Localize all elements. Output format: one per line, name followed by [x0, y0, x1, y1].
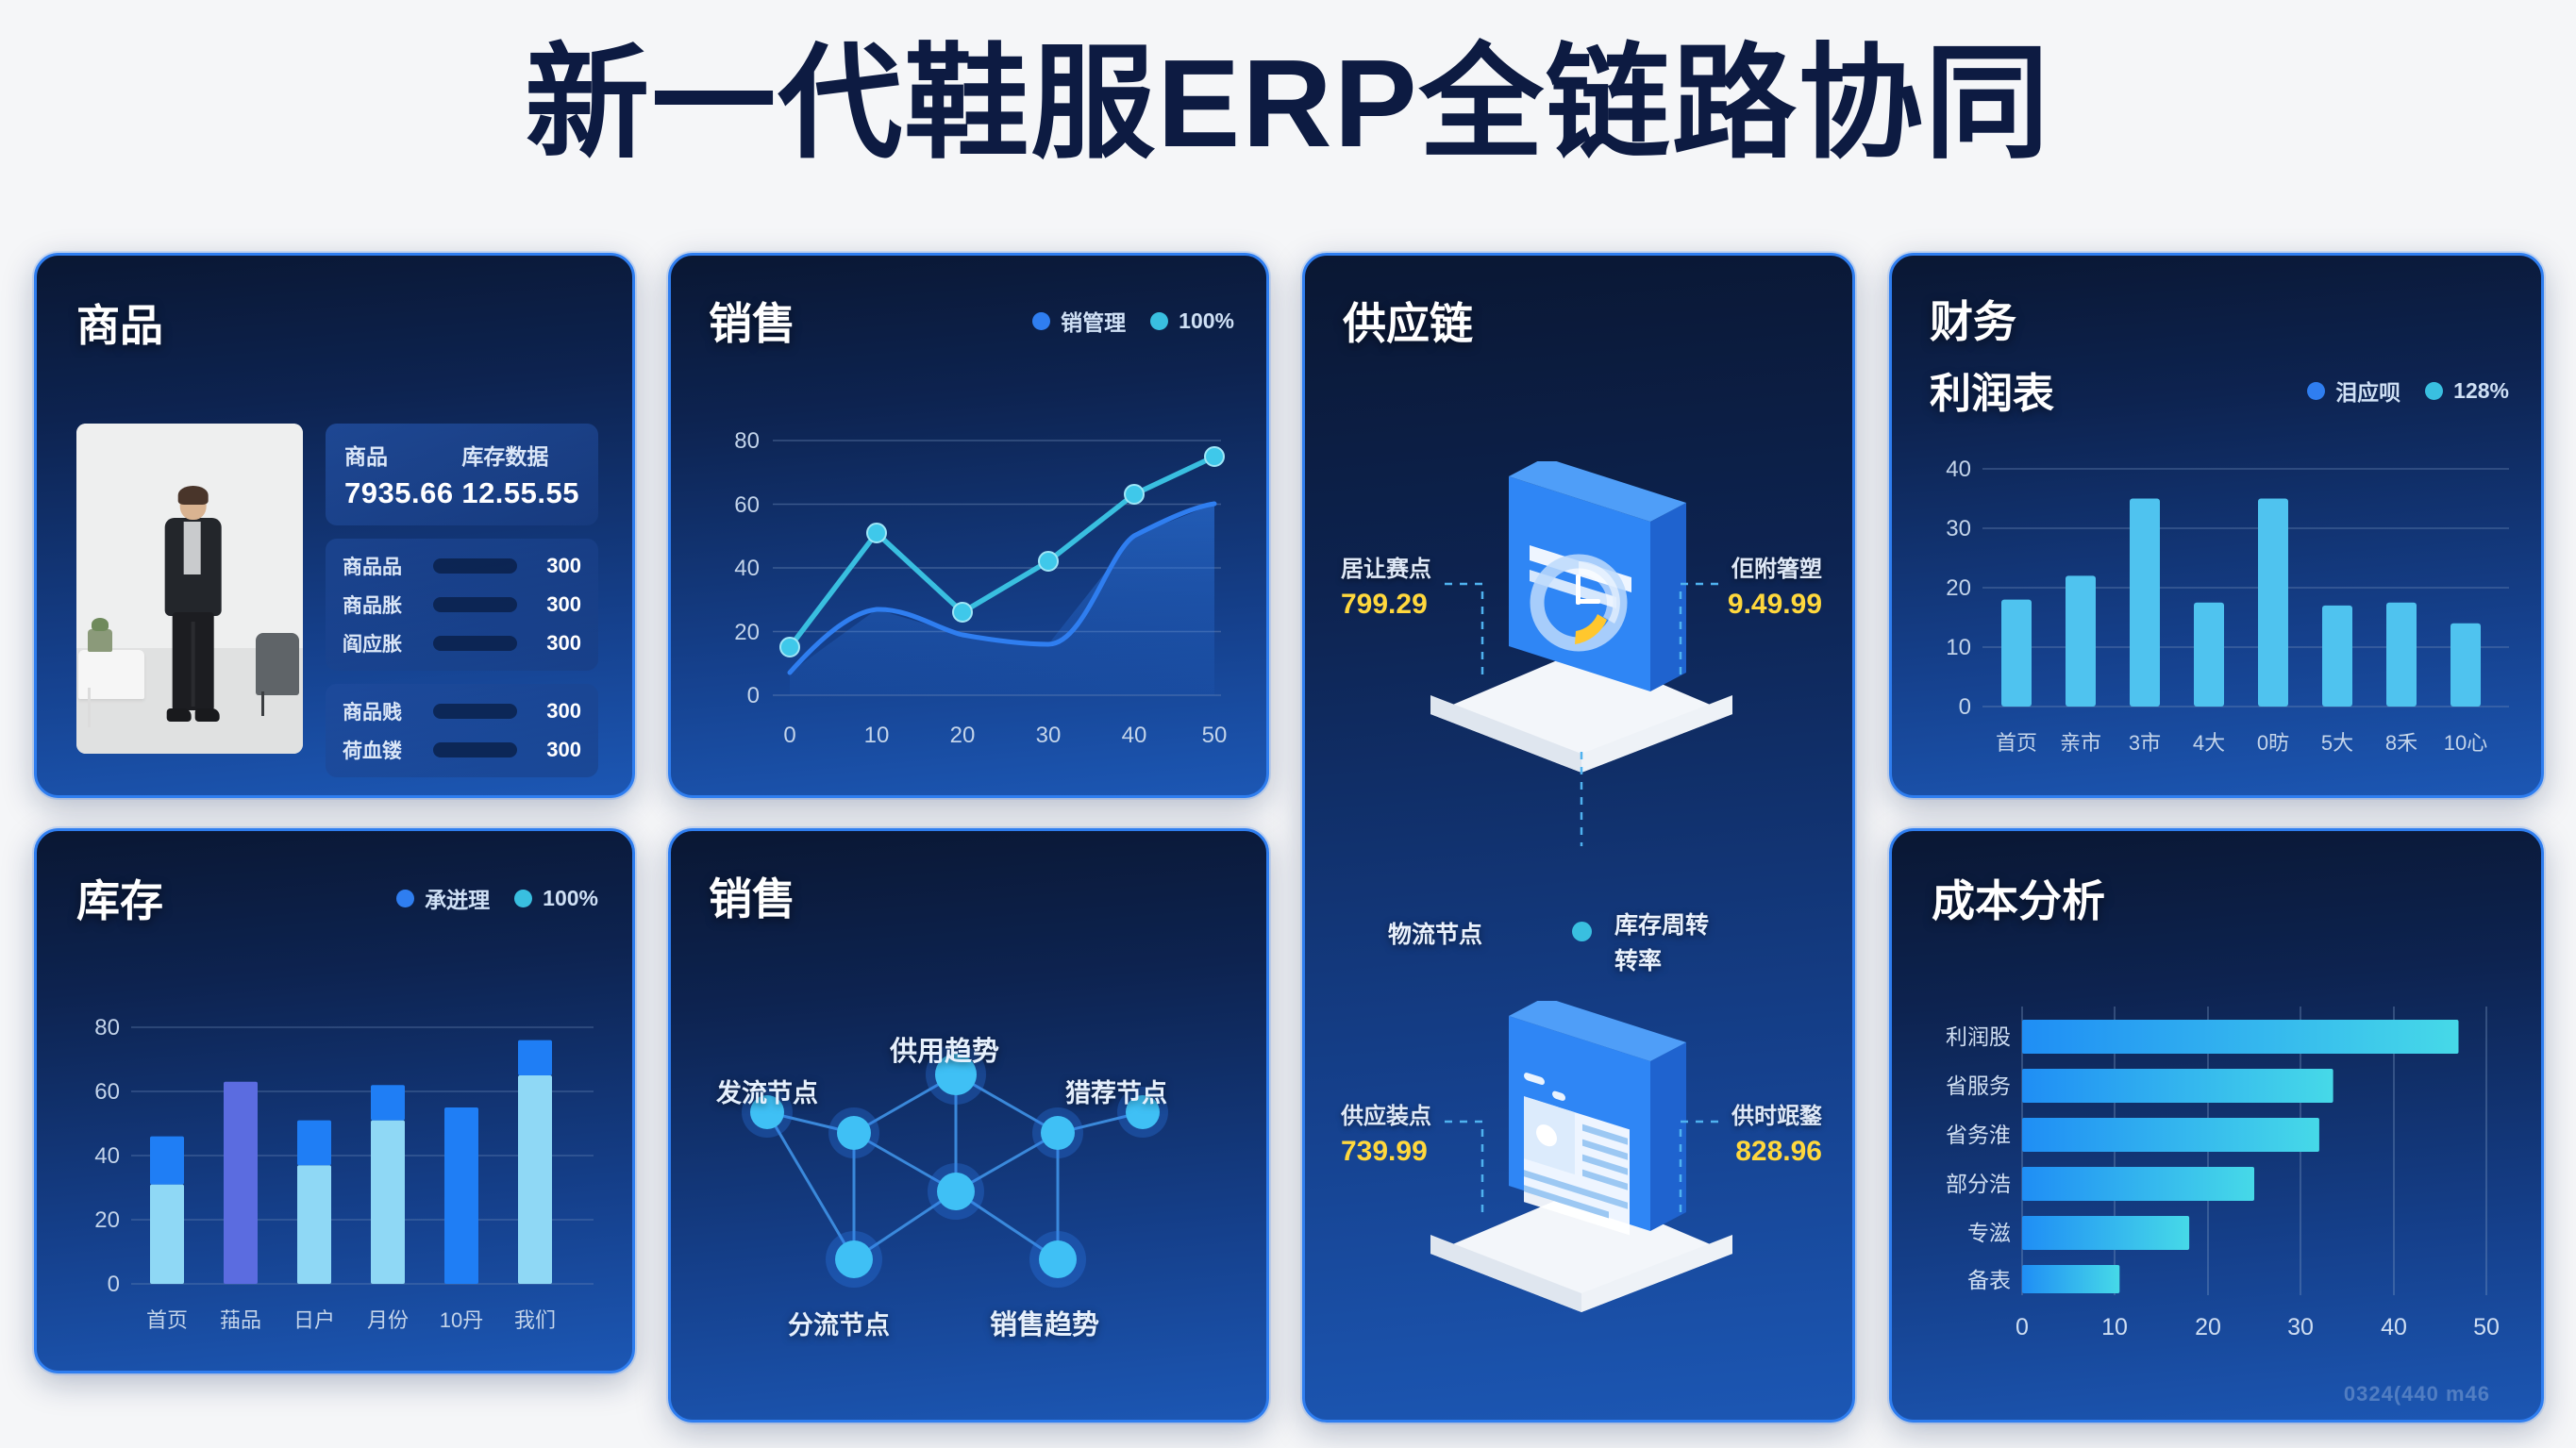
finance-legend: 泪应呗 128%: [2307, 374, 2509, 407]
sales-line-plot: 020 4060 80 010 2030 4050: [707, 403, 1240, 771]
legend-item: 100%: [1150, 308, 1234, 334]
card-stock-title: 库存: [76, 867, 163, 929]
stat-label: 库存数据: [461, 439, 548, 471]
svg-text:40: 40: [1946, 457, 1971, 482]
legend-item: 销管理: [1032, 305, 1126, 337]
svg-text:30: 30: [1036, 723, 1062, 748]
progress-label: 商品品: [343, 552, 422, 580]
svg-text:省务淮: 省务淮: [1946, 1123, 2011, 1147]
page-title: 新一代鞋服ERP全链路协同: [0, 28, 2576, 179]
card-finance-title: 财务: [1930, 288, 2016, 350]
progress-value: 300: [528, 738, 581, 762]
card-grid: 商品 商品 7935: [34, 253, 2544, 1423]
product-photo: [76, 424, 303, 754]
card-network[interactable]: 销售: [668, 828, 1269, 1423]
progress-track: [433, 742, 517, 757]
supply-callout-top-right: 佢附箸塑 9.49.99: [1728, 550, 1822, 621]
svg-text:10丹: 10丹: [440, 1308, 483, 1332]
progress-value: 300: [528, 554, 581, 578]
progress-value: 300: [528, 592, 581, 617]
progress-group-1: 商品品 300 商品胀 300 阎应胀 300: [326, 539, 598, 671]
svg-text:40: 40: [1122, 723, 1147, 748]
svg-text:40: 40: [2381, 1314, 2407, 1340]
card-sales-line-title: 销售: [709, 290, 795, 352]
card-cost-title: 成本分析: [1932, 867, 2105, 929]
svg-text:备表: 备表: [1967, 1268, 2011, 1292]
svg-text:20: 20: [2195, 1314, 2221, 1340]
card-product[interactable]: 商品 商品 7935: [34, 253, 635, 798]
legend-label: 100%: [1179, 308, 1234, 334]
card-sales-line[interactable]: 销售 销管理 100%: [668, 253, 1269, 798]
card-supply-title: 供应链: [1343, 290, 1473, 352]
svg-text:80: 80: [94, 1015, 120, 1040]
card-cost[interactable]: 成本分析: [1889, 828, 2544, 1423]
svg-text:5大: 5大: [2321, 731, 2353, 755]
supply-mid-dot-icon: [1572, 922, 1592, 941]
network-label-bottom-left: 分流节点: [788, 1305, 890, 1341]
callout-value: 799.29: [1341, 589, 1431, 621]
legend-label: 承迸理: [425, 882, 490, 914]
legend-label: 销管理: [1061, 305, 1126, 337]
svg-text:0: 0: [1959, 694, 1971, 720]
svg-text:8禾: 8禾: [2385, 731, 2417, 755]
stat-label: 商品: [344, 439, 388, 471]
dashboard-page: 新一代鞋服ERP全链路协同 商品: [0, 0, 2576, 1448]
svg-text:我们: 我们: [514, 1308, 556, 1332]
legend-label: 128%: [2453, 378, 2509, 404]
card-finance-subtitle: 利润表: [1930, 359, 2054, 420]
header: 新一代鞋服ERP全链路协同: [0, 0, 2576, 208]
svg-text:60: 60: [734, 492, 760, 518]
supply-mid-right-label-1: 库存周转: [1614, 907, 1709, 940]
card-network-title: 销售: [709, 865, 795, 927]
network-label-right: 猎荐节点: [1065, 1073, 1167, 1109]
svg-text:菗品: 菗品: [220, 1308, 261, 1332]
svg-text:部分浩: 部分浩: [1946, 1172, 2011, 1196]
cost-bar-plot: 利润股省服务 省务淮部分浩 专滋备表 010 2030 4050: [1920, 991, 2524, 1369]
progress-track: [433, 704, 517, 719]
progress-label: 商品胀: [343, 591, 422, 619]
svg-text:20: 20: [1946, 575, 1971, 601]
progress-track: [433, 636, 517, 651]
progress-row: 商品贱 300: [343, 697, 581, 725]
svg-text:月份: 月份: [367, 1308, 409, 1332]
supply-callout-bottom-right: 供时䇇鍪 828.96: [1731, 1097, 1822, 1168]
svg-text:60: 60: [94, 1079, 120, 1105]
legend-dot-icon: [396, 890, 414, 907]
callout-label: 居让赛点: [1341, 550, 1431, 583]
svg-text:亲市: 亲市: [2060, 731, 2101, 755]
stat-item: 库存数据 12.55.55: [461, 439, 579, 510]
svg-text:20: 20: [950, 723, 976, 748]
svg-text:利润股: 利润股: [1946, 1024, 2011, 1049]
supply-callout-top-left: 居让赛点 799.29: [1341, 550, 1431, 621]
legend-item: 承迸理: [396, 882, 490, 914]
progress-value: 300: [528, 699, 581, 724]
legend-dot-icon: [2425, 382, 2443, 400]
stock-legend: 承迸理 100%: [396, 882, 598, 914]
svg-text:30: 30: [2287, 1314, 2314, 1340]
legend-item: 100%: [514, 886, 598, 911]
legend-item: 128%: [2425, 378, 2509, 404]
progress-label: 荷血镂: [343, 736, 422, 764]
progress-row: 荷血镂 300: [343, 736, 581, 764]
stat-box: 商品 7935.66 库存数据 12.55.55: [326, 424, 598, 525]
svg-text:首页: 首页: [1996, 731, 2037, 755]
progress-row: 商品品 300: [343, 552, 581, 580]
svg-text:0: 0: [108, 1272, 120, 1297]
svg-text:10: 10: [864, 723, 890, 748]
progress-group-2: 商品贱 300 荷血镂 300: [326, 684, 598, 777]
callout-value: 9.49.99: [1728, 589, 1822, 621]
callout-value: 828.96: [1731, 1136, 1822, 1168]
callout-label: 供应装点: [1341, 1097, 1431, 1130]
callout-label: 供时䇇鍪: [1731, 1097, 1822, 1130]
svg-text:0: 0: [2016, 1314, 2029, 1340]
progress-label: 商品贱: [343, 697, 422, 725]
card-product-title: 商品: [76, 291, 163, 354]
watermark-text: 0324(440 m46: [2344, 1382, 2490, 1406]
supply-mid-left-label: 物流节点: [1388, 916, 1482, 950]
progress-track: [433, 558, 517, 574]
svg-text:0昉: 0昉: [2257, 731, 2289, 755]
svg-text:50: 50: [1202, 723, 1228, 748]
supply-callout-bottom-left: 供应装点 739.99: [1341, 1097, 1431, 1168]
progress-label: 阎应胀: [343, 629, 422, 657]
progress-track: [433, 597, 517, 612]
legend-dot-icon: [514, 890, 532, 907]
svg-text:日户: 日户: [293, 1308, 335, 1332]
svg-text:0: 0: [747, 683, 760, 708]
legend-dot-icon: [1150, 312, 1168, 330]
callout-value: 739.99: [1341, 1136, 1431, 1168]
stat-value: 12.55.55: [461, 476, 579, 510]
card-stock[interactable]: 库存 承迸理 100%: [34, 828, 635, 1373]
svg-text:4大: 4大: [2193, 731, 2225, 755]
stat-item: 商品 7935.66: [344, 439, 454, 510]
callout-label: 佢附箸塑: [1728, 550, 1822, 583]
model-figure: [150, 490, 237, 731]
card-supply[interactable]: 供应链: [1302, 253, 1855, 1423]
product-body: 商品 7935.66 库存数据 12.55.55 商品品: [76, 424, 598, 756]
legend-label: 泪应呗: [2335, 374, 2400, 407]
svg-text:专滋: 专滋: [1967, 1221, 2011, 1245]
svg-text:20: 20: [734, 620, 760, 645]
svg-text:3市: 3市: [2129, 731, 2161, 755]
svg-text:10心: 10心: [2444, 731, 2487, 755]
svg-text:80: 80: [734, 428, 760, 454]
svg-text:0: 0: [783, 723, 795, 748]
svg-text:10: 10: [2101, 1314, 2128, 1340]
network-label-left: 发流节点: [716, 1073, 818, 1109]
progress-row: 阎应胀 300: [343, 629, 581, 657]
product-stats: 商品 7935.66 库存数据 12.55.55 商品品: [326, 424, 598, 756]
progress-value: 300: [528, 631, 581, 656]
svg-text:50: 50: [2473, 1314, 2500, 1340]
svg-text:20: 20: [94, 1207, 120, 1233]
legend-dot-icon: [1032, 312, 1050, 330]
legend-item: 泪应呗: [2307, 374, 2400, 407]
card-finance[interactable]: 财务 利润表 泪应呗 128%: [1889, 253, 2544, 798]
svg-text:30: 30: [1946, 516, 1971, 541]
sales-line-legend: 销管理 100%: [1032, 305, 1234, 337]
network-label-bottom-right: 销售趋势: [990, 1303, 1099, 1342]
finance-bar-plot: 010 2030 40 首页亲市 3市4大: [1920, 433, 2524, 780]
legend-dot-icon: [2307, 382, 2325, 400]
stock-bar-plot: 020 4060 80: [63, 991, 612, 1361]
supply-mid-right-label-2: 转率: [1614, 942, 1662, 976]
network-label-top-center: 供用趋势: [890, 1029, 999, 1069]
legend-label: 100%: [543, 886, 598, 911]
svg-text:10: 10: [1946, 635, 1971, 660]
progress-row: 商品胀 300: [343, 591, 581, 619]
svg-text:40: 40: [94, 1143, 120, 1169]
svg-text:首页: 首页: [146, 1308, 188, 1332]
stat-value: 7935.66: [344, 476, 454, 510]
svg-text:40: 40: [734, 556, 760, 581]
svg-text:省服务: 省服务: [1946, 1074, 2011, 1098]
